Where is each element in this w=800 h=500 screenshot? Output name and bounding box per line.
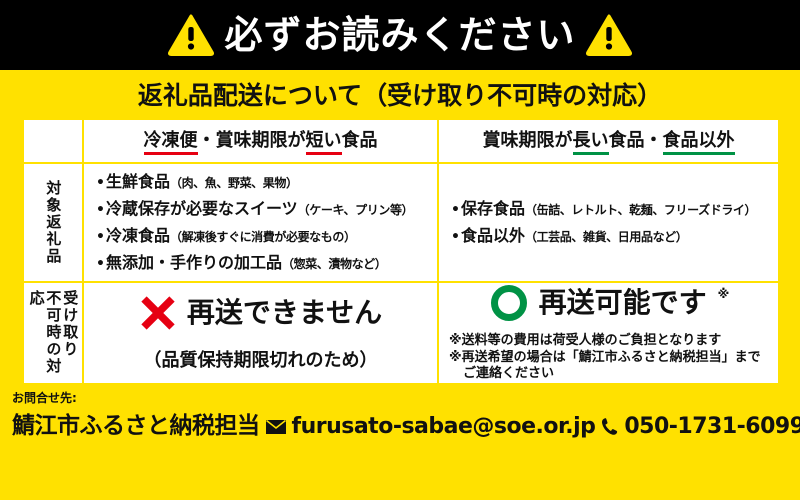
row-label-undelivered-response: 不可時の対応 受け取り (23, 282, 83, 384)
colhead-left-part4: 食品 (342, 130, 378, 151)
phone-icon (601, 417, 618, 437)
bullet-icon: • (96, 202, 105, 218)
item-main: 冷蔵保存が必要なスイーツ (106, 199, 298, 218)
result-superscript: ※ (718, 287, 730, 301)
colhead-left-part1: 冷凍便 (144, 130, 198, 155)
item-note: （解凍後すぐに消費が必要なもの） (170, 230, 356, 244)
corner-cell (23, 119, 83, 163)
cell-target-items-left: •生鮮食品（肉、魚、野菜、果物） •冷蔵保存が必要なスイーツ（ケーキ、プリン等）… (83, 163, 438, 282)
subtitle-bar: 返礼品配送について（受け取り不可時の対応） (0, 70, 800, 118)
bullet-icon: • (96, 175, 105, 191)
envelope-icon (266, 418, 286, 437)
header-bar: 必ずお読みください (0, 0, 800, 70)
list-item: •無添加・手作りの加工品（惣菜、漬物など） (96, 255, 429, 271)
list-item: •生鮮食品（肉、魚、野菜、果物） (96, 174, 429, 190)
notice-banner: 必ずお読みください 返礼品配送について（受け取り不可時の対応） 冷凍便・賞味期限… (0, 0, 800, 500)
colhead-right-part2: 長い (573, 130, 609, 155)
info-table-wrapper: 冷凍便・賞味期限が短い食品 賞味期限が長い食品・食品以外 対象返礼品 (0, 118, 800, 385)
table-header-row: 冷凍便・賞味期限が短い食品 賞味期限が長い食品・食品以外 (23, 119, 779, 163)
colhead-left-sep: ・ (198, 130, 216, 151)
x-mark-icon (139, 294, 177, 332)
item-note: （肉、魚、野菜、果物） (170, 176, 298, 190)
column-header-right: 賞味期限が長い食品・食品以外 (438, 119, 779, 163)
note-line: ※再送希望の場合は「鯖江市ふるさと納税担当」まで (449, 350, 778, 367)
colhead-right-part1: 賞味期限が (483, 130, 573, 151)
item-main: 冷凍食品 (106, 226, 170, 245)
list-item: •食品以外（工芸品、雑貨、日用品など） (451, 228, 770, 244)
item-note: （惣菜、漬物など） (282, 257, 386, 271)
result-text-left: 再送できません (187, 299, 382, 327)
footer-email[interactable]: furusato-sabae@soe.or.jp (292, 414, 596, 439)
item-main: 無添加・手作りの加工品 (106, 253, 282, 272)
warning-triangle-icon (586, 14, 632, 56)
note-line: ※送料等の費用は荷受人様のご負担となります (449, 333, 778, 350)
item-note: （ケーキ、プリン等） (298, 203, 414, 217)
row-label-text-col-b: 不可時の対応 (28, 290, 62, 376)
warning-triangle-icon (168, 14, 214, 56)
bullet-icon: • (451, 202, 460, 218)
cell-target-items-right: •保存食品（缶詰、レトルト、乾麺、フリーズドライ） •食品以外（工芸品、雑貨、日… (438, 163, 779, 282)
page-title: 必ずお読みください (224, 16, 575, 54)
item-note: （工芸品、雑貨、日用品など） (525, 230, 687, 244)
result-notes: ※送料等の費用は荷受人様のご負担となります ※再送希望の場合は「鯖江市ふるさと納… (439, 333, 778, 383)
cell-result-right: 再送可能です※ ※送料等の費用は荷受人様のご負担となります ※再送希望の場合は「… (438, 282, 779, 384)
colhead-right-sep: ・ (645, 130, 663, 151)
table-row: 対象返礼品 •生鮮食品（肉、魚、野菜、果物） •冷蔵保存が必要なスイーツ（ケーキ… (23, 163, 779, 282)
footer-contact: お問合せ先: 鯖江市ふるさと納税担当 furusato-sabae@soe.or… (0, 385, 800, 440)
note-line: ご連絡ください (449, 366, 778, 383)
footer-label: お問合せ先: (12, 391, 788, 405)
info-table: 冷凍便・賞味期限が短い食品 賞味期限が長い食品・食品以外 対象返礼品 (22, 118, 780, 385)
table-row: 不可時の対応 受け取り 再送できません （品質保持 (23, 282, 779, 384)
colhead-right-part4: 食品以外 (663, 130, 735, 155)
bullet-icon: • (96, 229, 105, 245)
footer-department: 鯖江市ふるさと納税担当 (12, 406, 260, 440)
bullet-icon: • (96, 256, 105, 272)
footer-phone[interactable]: 050-1731-6099 (624, 414, 800, 439)
colhead-left-part3: 短い (306, 130, 342, 155)
item-main: 生鮮食品 (106, 172, 170, 191)
row-label-text: 対象返礼品 (45, 180, 62, 265)
subtitle-text: 返礼品配送について（受け取り不可時の対応） (138, 76, 662, 112)
result-subtext-left: （品質保持期限切れのため） (84, 346, 437, 372)
item-main: 食品以外 (461, 226, 525, 245)
list-item: •冷凍食品（解凍後すぐに消費が必要なもの） (96, 228, 429, 244)
result-text-right: 再送可能です (539, 289, 707, 317)
list-item: •冷蔵保存が必要なスイーツ（ケーキ、プリン等） (96, 201, 429, 217)
row-label-text-col-a: 受け取り (61, 290, 78, 376)
bullet-icon: • (451, 229, 460, 245)
row-label-target-items: 対象返礼品 (23, 163, 83, 282)
colhead-right-part3: 食品 (609, 130, 645, 151)
item-note: （缶詰、レトルト、乾麺、フリーズドライ） (525, 203, 756, 217)
circle-mark-icon (489, 283, 529, 323)
cell-result-left: 再送できません （品質保持期限切れのため） (83, 282, 438, 384)
item-main: 保存食品 (461, 199, 525, 218)
column-header-left: 冷凍便・賞味期限が短い食品 (83, 119, 438, 163)
colhead-left-part2: 賞味期限が (216, 130, 306, 151)
list-item: •保存食品（缶詰、レトルト、乾麺、フリーズドライ） (451, 201, 770, 217)
